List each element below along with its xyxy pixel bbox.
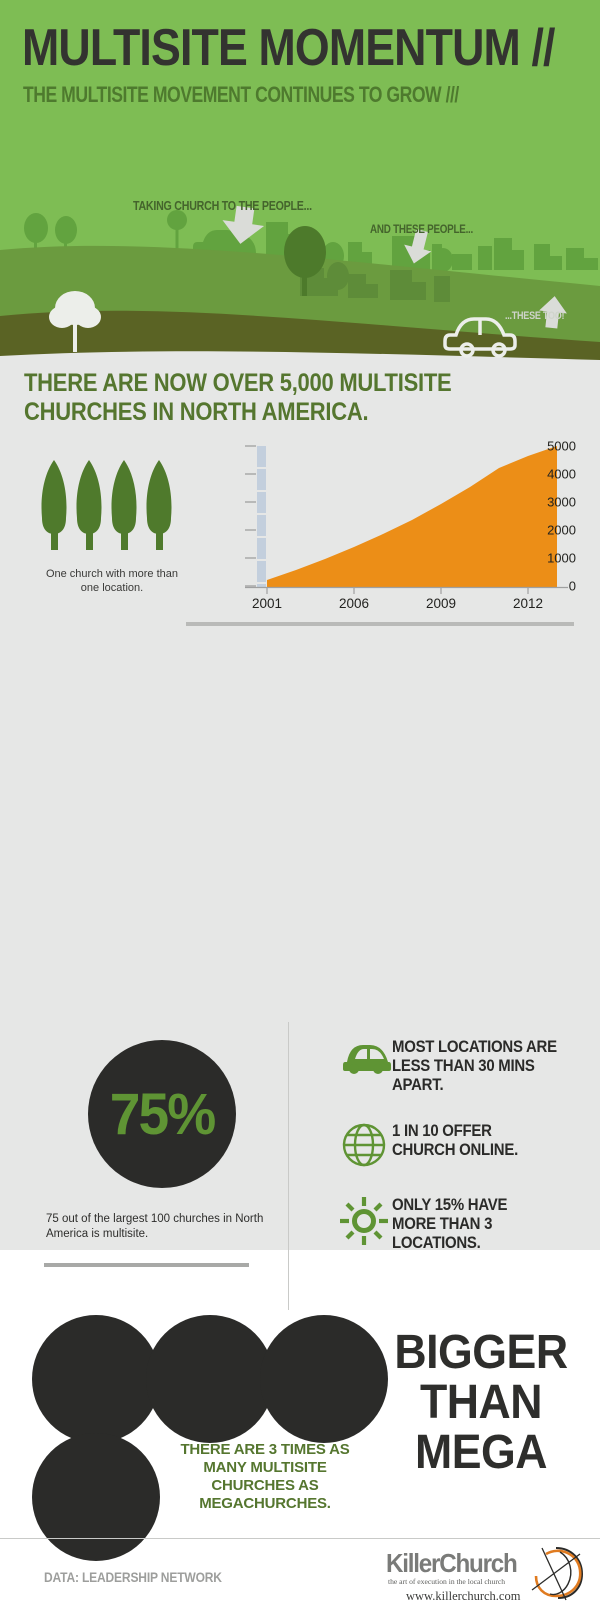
comparison-circle bbox=[32, 1433, 160, 1561]
landscape-illustration: TAKING CHURCH TO THE PEOPLE... AND THESE… bbox=[0, 110, 600, 370]
trees-caption: One church with more than one location. bbox=[38, 567, 186, 595]
circles-comparison: THERE ARE 3 TIMES AS MANY MULTISITE CHUR… bbox=[30, 1315, 360, 1530]
fact-text: 1 IN 10 OFFER CHURCH ONLINE. bbox=[392, 1120, 518, 1159]
scene-label-these-people: AND THESE PEOPLE... bbox=[370, 222, 473, 236]
comparison-circle bbox=[260, 1315, 388, 1443]
footer-divider bbox=[0, 1538, 600, 1539]
x-tick-label: 2001 bbox=[252, 596, 282, 611]
y-tick-label: 2000 bbox=[520, 523, 576, 538]
fact-item: MOST LOCATIONS ARE LESS THAN 30 MINS APA… bbox=[336, 1036, 586, 1094]
percent-caption: 75 out of the largest 100 churches in No… bbox=[46, 1212, 271, 1242]
bigger-than-mega-headline: BIGGER THAN MEGA bbox=[383, 1328, 578, 1478]
fact-text: ONLY 15% HAVE MORE THAN 3 LOCATIONS. bbox=[392, 1194, 507, 1252]
growth-area-chart: 5000 4000 3000 2000 1000 0 2001 2006 200… bbox=[186, 436, 576, 628]
y-tick-label: 3000 bbox=[520, 495, 576, 510]
fact-text: MOST LOCATIONS ARE LESS THAN 30 MINS APA… bbox=[392, 1036, 557, 1094]
percent-value: 75% bbox=[110, 1081, 215, 1148]
content-area: THERE ARE NOW OVER 5,000 MULTISITE CHURC… bbox=[0, 360, 600, 1250]
x-tick-label: 2012 bbox=[513, 596, 543, 611]
comparison-circle bbox=[32, 1315, 160, 1443]
y-tick-label: 1000 bbox=[520, 551, 576, 566]
comparison-text: THERE ARE 3 TIMES AS MANY MULTISITE CHUR… bbox=[170, 1441, 360, 1513]
facts-list: MOST LOCATIONS ARE LESS THAN 30 MINS APA… bbox=[336, 1036, 586, 1278]
fact-item: 1 IN 10 OFFER CHURCH ONLINE. bbox=[336, 1120, 586, 1168]
sun-icon bbox=[336, 1194, 392, 1246]
trees-illustration: One church with more than one location. bbox=[38, 460, 186, 595]
logo-globe-icon bbox=[526, 1544, 588, 1602]
car-icon bbox=[336, 1036, 392, 1074]
x-tick-label: 2009 bbox=[426, 596, 456, 611]
y-tick-label: 5000 bbox=[520, 439, 576, 454]
page-subtitle: THE MULTISITE MOVEMENT CONTINUES TO GROW… bbox=[23, 84, 459, 106]
page-title: MULTISITE MOMENTUM // bbox=[22, 22, 555, 74]
logo-url[interactable]: www.killerchurch.com bbox=[406, 1589, 520, 1604]
chart-section-title: THERE ARE NOW OVER 5,000 MULTISITE CHURC… bbox=[24, 369, 451, 427]
logo-tagline: the art of execution in the local church bbox=[388, 1577, 505, 1586]
percent-circle: 75% bbox=[88, 1040, 236, 1188]
fact-item: ONLY 15% HAVE MORE THAN 3 LOCATIONS. bbox=[336, 1194, 586, 1252]
chart-baseline bbox=[186, 622, 574, 626]
vertical-divider bbox=[288, 1022, 289, 1310]
scene-svg bbox=[0, 110, 600, 370]
globe-icon bbox=[336, 1120, 392, 1168]
y-tick-label: 4000 bbox=[520, 467, 576, 482]
comparison-circle bbox=[146, 1315, 274, 1443]
scene-label-these-too: ...THESE TOO! bbox=[505, 310, 564, 322]
logo-name: KillerChurch bbox=[386, 1548, 517, 1579]
tree-group-icon bbox=[38, 460, 186, 552]
data-source-label: DATA: LEADERSHIP NETWORK bbox=[44, 1569, 222, 1585]
killerchurch-logo[interactable]: KillerChurch the art of execution in the… bbox=[386, 1548, 586, 1606]
horizontal-rule bbox=[44, 1263, 249, 1267]
scene-label-taking: TAKING CHURCH TO THE PEOPLE... bbox=[133, 198, 312, 213]
y-tick-label: 0 bbox=[520, 579, 576, 594]
x-tick-label: 2006 bbox=[339, 596, 369, 611]
